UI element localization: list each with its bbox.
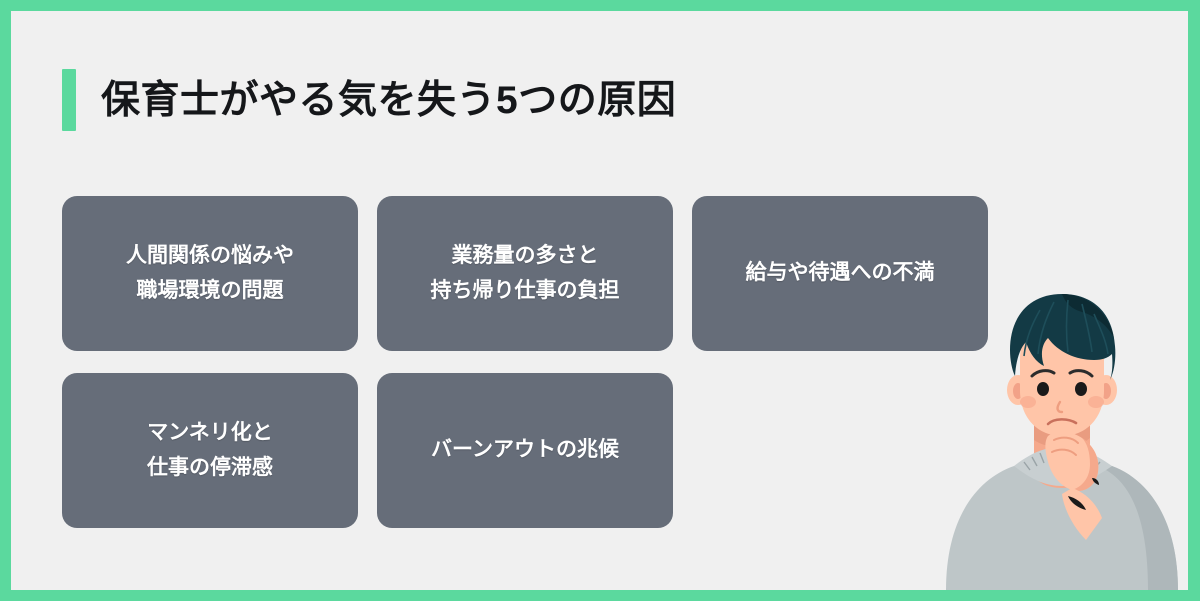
cause-card-5-line-1: バーンアウトの兆候 (431, 433, 619, 467)
cause-card-1[interactable]: 人間関係の悩みや 職場環境の問題 (62, 196, 358, 351)
cheek-right (1088, 396, 1104, 408)
slide-frame: 保育士がやる気を失う5つの原因 人間関係の悩みや 職場環境の問題 業務量の多さと… (0, 0, 1200, 601)
cause-card-3-line-1: 給与や待遇への不満 (746, 256, 935, 290)
eye-left (1037, 382, 1049, 396)
cause-card-4-line-1: マンネリ化と (147, 416, 273, 450)
cause-card-2-line-1: 業務量の多さと (452, 239, 599, 273)
cause-card-2[interactable]: 業務量の多さと 持ち帰り仕事の負担 (377, 196, 673, 351)
cause-card-4[interactable]: マンネリ化と 仕事の停滞感 (62, 373, 358, 528)
thinking-man-illustration (936, 290, 1188, 590)
cause-card-4-line-2: 仕事の停滞感 (147, 451, 273, 485)
slide-canvas: 保育士がやる気を失う5つの原因 人間関係の悩みや 職場環境の問題 業務量の多さと… (11, 11, 1188, 590)
page-title-text: 保育士がやる気を失う5つの原因 (101, 81, 676, 120)
cause-card-row-2: マンネリ化と 仕事の停滞感 バーンアウトの兆候 (62, 373, 1037, 528)
cause-card-row-1: 人間関係の悩みや 職場環境の問題 業務量の多さと 持ち帰り仕事の負担 給与や待遇… (62, 196, 1037, 351)
page-title: 保育士がやる気を失う5つの原因 (62, 69, 676, 131)
cause-card-5[interactable]: バーンアウトの兆候 (377, 373, 673, 528)
cause-card-grid: 人間関係の悩みや 職場環境の問題 業務量の多さと 持ち帰り仕事の負担 給与や待遇… (62, 196, 1037, 550)
cause-card-1-line-1: 人間関係の悩みや (126, 239, 294, 273)
cheek-left (1020, 396, 1036, 408)
cause-card-1-line-2: 職場環境の問題 (137, 274, 284, 308)
cause-card-2-line-2: 持ち帰り仕事の負担 (431, 274, 620, 308)
title-accent-bar (62, 69, 76, 131)
eye-right (1075, 382, 1087, 396)
